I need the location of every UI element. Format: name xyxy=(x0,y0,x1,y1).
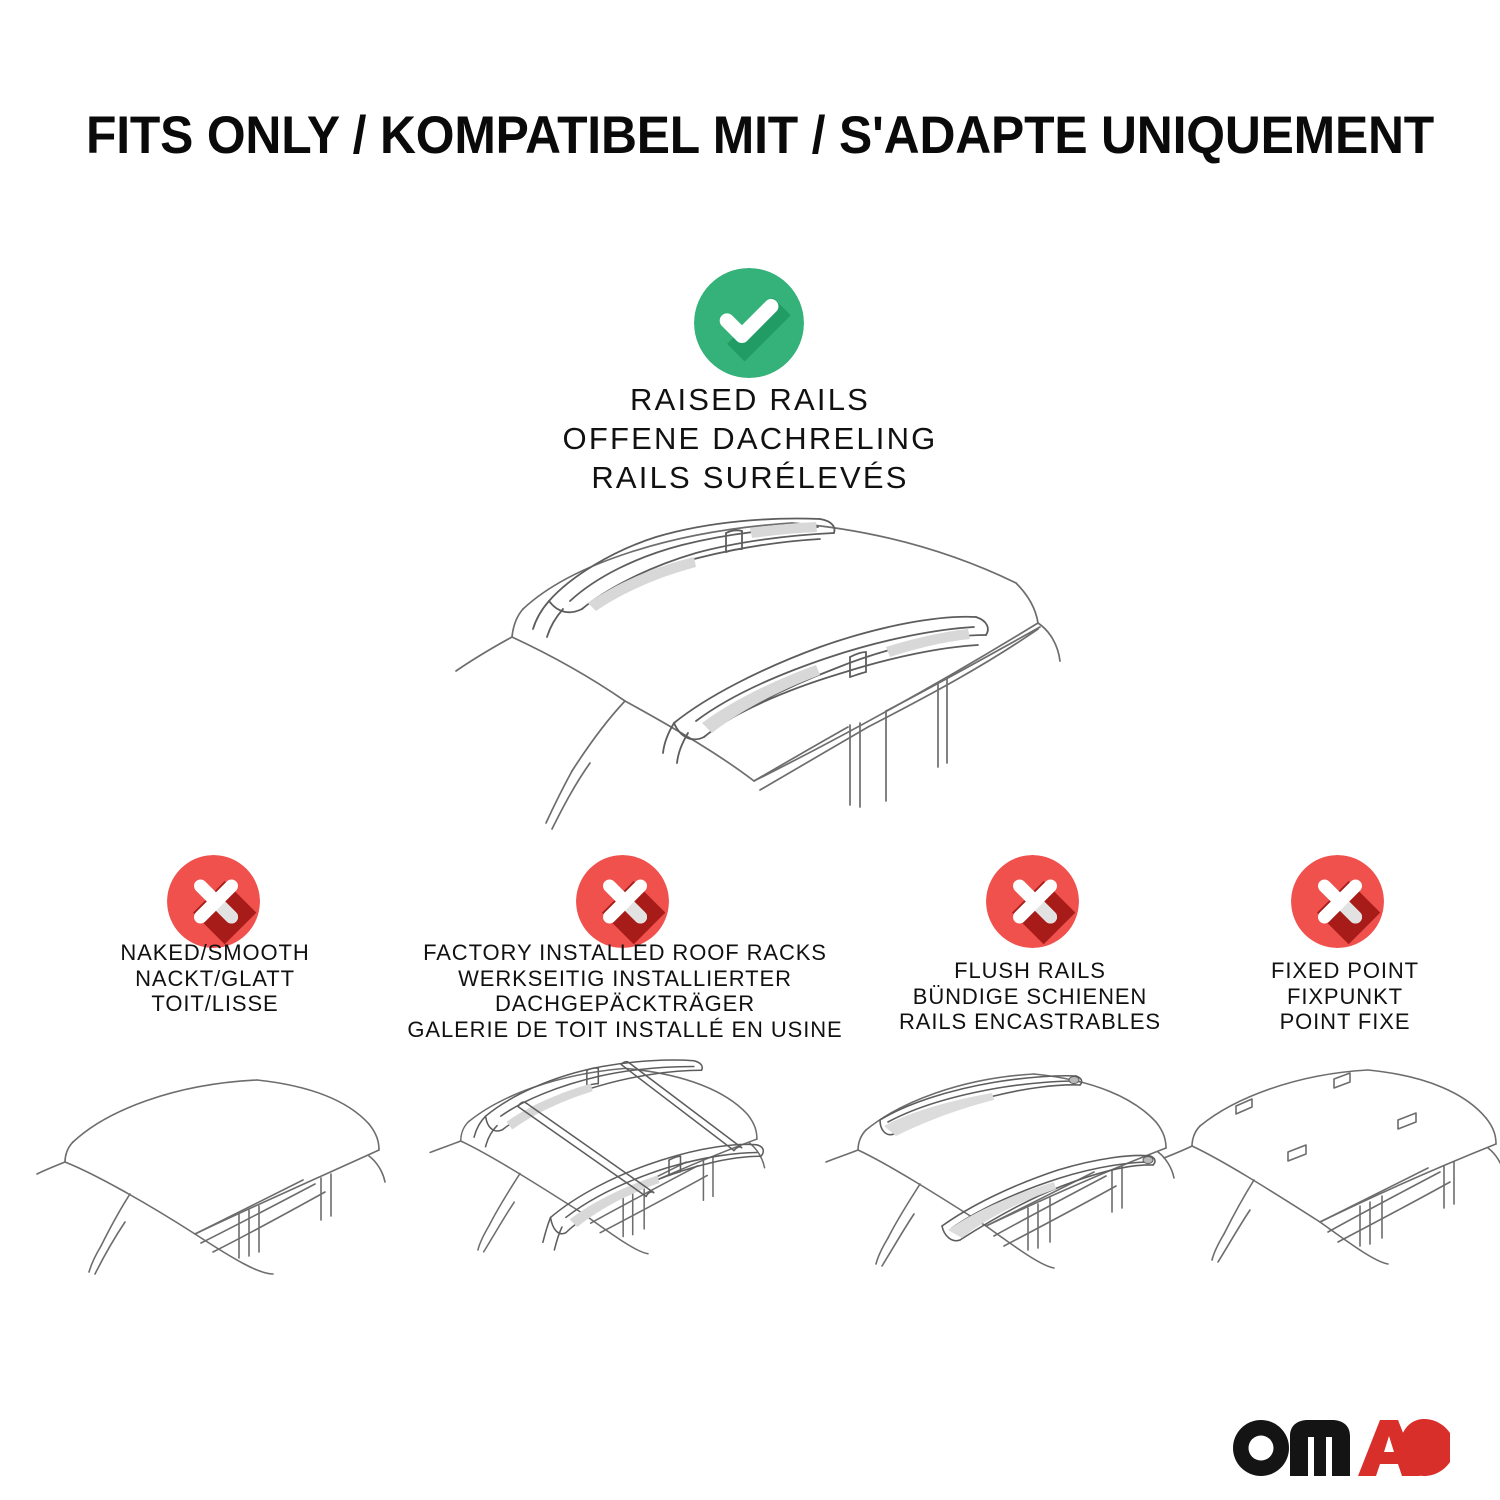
car-roof-flush-rails-illustration xyxy=(820,1058,1210,1273)
caption-line-en: FACTORY INSTALLED ROOF RACKS xyxy=(400,940,850,966)
x-circle-icon xyxy=(167,855,260,948)
x-circle-icon xyxy=(986,855,1079,948)
caption-line-de-1: WERKSEITIG INSTALLIERTER xyxy=(400,966,850,992)
compatible-caption: RAISED RAILS OFFENE DACHRELING RAILS SUR… xyxy=(400,380,1100,497)
caption-line-en: FLUSH RAILS xyxy=(845,958,1215,984)
check-circle-icon xyxy=(694,268,804,378)
car-roof-naked-illustration xyxy=(35,1062,405,1277)
caption-line-de: BÜNDIGE SCHIENEN xyxy=(845,984,1215,1010)
omac-logo xyxy=(1228,1415,1450,1477)
caption-line-de: NACKT/GLATT xyxy=(20,966,410,992)
caption-line-de-2: DACHGEPÄCKTRÄGER xyxy=(400,991,850,1017)
car-roof-factory-racks-illustration xyxy=(410,1055,800,1270)
caption-line-en: NAKED/SMOOTH xyxy=(20,940,410,966)
caption-line-fr: POINT FIXE xyxy=(1200,1009,1490,1035)
car-roof-raised-rails-illustration xyxy=(420,505,1090,845)
x-circle-icon xyxy=(1291,855,1384,948)
page-title: FITS ONLY / KOMPATIBEL MIT / S'ADAPTE UN… xyxy=(86,105,1346,167)
fixed-point-caption: FIXED POINT FIXPUNKT POINT FIXE xyxy=(1200,958,1490,1035)
x-circle-icon xyxy=(576,855,669,948)
factory-racks-caption: FACTORY INSTALLED ROOF RACKS WERKSEITIG … xyxy=(400,940,850,1042)
caption-line-de: FIXPUNKT xyxy=(1200,984,1490,1010)
flush-rails-caption: FLUSH RAILS BÜNDIGE SCHIENEN RAILS ENCAS… xyxy=(845,958,1215,1035)
caption-line-en: FIXED POINT xyxy=(1200,958,1490,984)
compatible-caption-line-de: OFFENE DACHRELING xyxy=(400,419,1100,458)
naked-smooth-caption: NAKED/SMOOTH NACKT/GLATT TOIT/LISSE xyxy=(20,940,410,1017)
caption-line-fr: TOIT/LISSE xyxy=(20,991,410,1017)
caption-line-fr: RAILS ENCASTRABLES xyxy=(845,1009,1215,1035)
caption-line-fr: GALERIE DE TOIT INSTALLÉ EN USINE xyxy=(400,1017,850,1043)
compatible-caption-line-fr: RAILS SURÉLEVÉS xyxy=(400,458,1100,497)
compatible-caption-line-en: RAISED RAILS xyxy=(400,380,1100,419)
car-roof-fixed-point-illustration xyxy=(1160,1058,1500,1273)
